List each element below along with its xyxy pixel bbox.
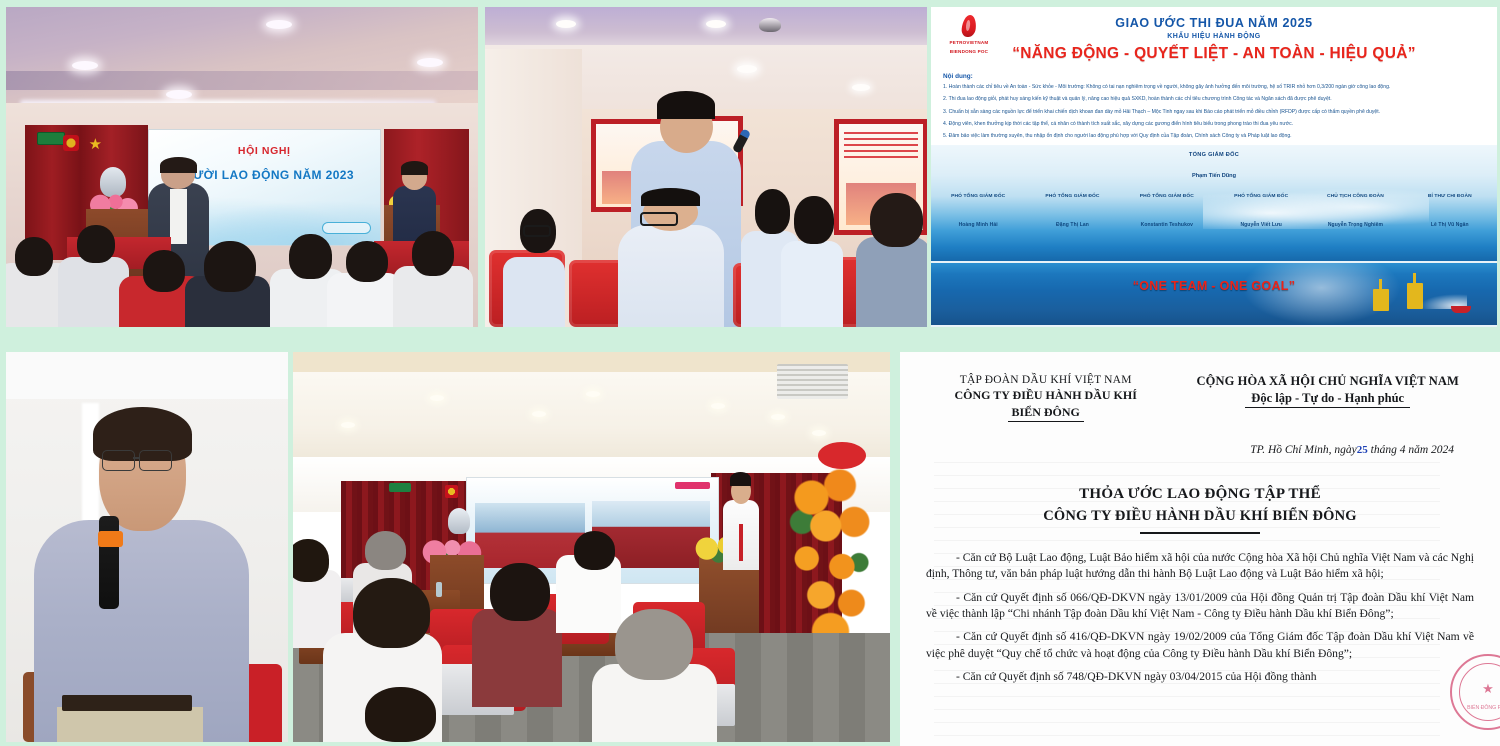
poster-signature-area: TỔNG GIÁM ĐỐC Phạm Tiến Dũng PHÓ TỔNG GI… <box>931 145 1497 261</box>
header-left-block: TẬP ĐOÀN DẦU KHÍ VIỆT NAM CÔNG TY ĐIỀU H… <box>926 374 1165 422</box>
downlight-icon <box>532 411 546 417</box>
hall-scene: ★ <box>293 352 890 742</box>
ceiling <box>6 352 288 399</box>
audience-head <box>615 609 693 679</box>
stamp-text: BIỂN ĐÔNG POC <box>1467 705 1500 711</box>
shirt <box>170 189 187 244</box>
audience-head <box>289 234 331 279</box>
poster-content: Nội dung: 1. Hoàn thành các chỉ tiêu về … <box>931 69 1497 145</box>
glasses-icon <box>523 225 551 237</box>
signatory-name: Lê Thị Vũ Ngân <box>1403 222 1497 228</box>
audience-head <box>365 531 407 570</box>
screen-title-line1: HỘI NGHỊ <box>149 145 380 157</box>
national-header-line1: CỘNG HÒA XÃ HỘI CHỦ NGHĨA VIỆT NAM <box>1181 374 1474 389</box>
audience-head <box>365 687 437 742</box>
signatory-name: Nguyễn Viết Lưu <box>1214 222 1308 228</box>
audience-person <box>856 237 927 327</box>
downlight-icon <box>556 20 576 28</box>
audience-head <box>15 237 53 275</box>
content-item: 5. Đảm bảo việc làm thường xuyên, thu nh… <box>943 133 1485 140</box>
photo-speaker-portrait <box>6 352 288 742</box>
air-conditioning-vent <box>777 364 849 399</box>
poster-text-lines <box>844 132 918 157</box>
audience-person <box>503 257 565 327</box>
water-bottle <box>436 582 442 597</box>
hair <box>641 188 700 206</box>
signatory-title: PHÓ TỔNG GIÁM ĐỐC <box>1214 194 1308 199</box>
national-header-line2: Độc lập - Tự do - Hạnh phúc <box>1245 391 1410 408</box>
audience-head <box>204 241 256 292</box>
signatory-title: PHÓ TỔNG GIÁM ĐỐC <box>1120 194 1214 199</box>
person-belt <box>62 695 192 711</box>
seated-person-front <box>618 225 724 327</box>
downlight-icon <box>266 20 292 29</box>
oil-rig-icon <box>1373 289 1389 311</box>
poster-body: PETROVIETNAM BIENDONG POC GIAO ƯỚC THI Đ… <box>931 7 1497 327</box>
microphone-foam <box>98 531 123 547</box>
document-page: TẬP ĐOÀN DẦU KHÍ VIỆT NAM CÔNG TY ĐIỀU H… <box>900 352 1500 746</box>
supply-boat-icon <box>1451 306 1471 313</box>
content-item: 3. Chuẩn bị sẵn sàng các nguồn lực để tr… <box>943 109 1485 116</box>
photo-collage-board: ★ HỘI NGHỊ NGƯỜI LAO ĐỘNG NĂM 2023 <box>0 0 1500 746</box>
screen-toolbar-badge <box>675 482 710 489</box>
glasses-bridge <box>133 457 140 459</box>
downlight-icon <box>417 58 443 67</box>
audience-head <box>490 563 550 622</box>
ho-chi-minh-bust <box>448 508 470 534</box>
org-line1: TẬP ĐOÀN DẦU KHÍ VIỆT NAM <box>926 374 1165 386</box>
glasses-icon <box>139 450 172 472</box>
flame-icon <box>961 15 977 37</box>
hair <box>657 91 714 119</box>
photo-conference-2023: ★ HỘI NGHỊ NGƯỜI LAO ĐỘNG NĂM 2023 <box>6 7 478 327</box>
signatory-name: Đặng Thị Lan <box>1025 222 1119 228</box>
signatory-name: Nguyễn Trọng Nghiêm <box>1308 222 1402 228</box>
security-camera-icon <box>759 18 781 32</box>
poster-slogan: “NĂNG ĐỘNG - QUYẾT LIỆT - AN TOÀN - HIỆU… <box>931 40 1497 63</box>
presenter-at-podium <box>723 500 759 570</box>
downlight-icon <box>737 65 757 73</box>
audience-head <box>412 231 454 276</box>
petrovietnam-logo: PETROVIETNAM BIENDONG POC <box>945 15 993 61</box>
downlight-icon <box>706 20 726 28</box>
audience-mic-scene <box>485 7 927 327</box>
content-item: 2. Thi đua lao động giỏi, phát huy sáng … <box>943 96 1485 103</box>
date-suffix: tháng 4 năm 2024 <box>1368 444 1454 456</box>
audience-head <box>293 539 329 582</box>
signatory-title: PHÓ TỔNG GIÁM ĐỐC <box>931 194 1025 199</box>
speaker-portrait-scene <box>6 352 288 742</box>
logo-text-line1: PETROVIETNAM <box>945 40 993 46</box>
flower-stand-banner <box>818 442 866 469</box>
signatory-title: BÍ THƯ CHI ĐOÀN <box>1403 194 1497 199</box>
signatory-titles-row: PHÓ TỔNG GIÁM ĐỐC PHÓ TỔNG GIÁM ĐỐC PHÓ … <box>931 194 1497 199</box>
poster-footer-banner: “ONE TEAM - ONE GOAL” <box>931 261 1497 327</box>
audience-person <box>472 609 562 707</box>
ceo-name: Phạm Tiến Dũng <box>931 173 1497 179</box>
date-prefix: TP. Hồ Chí Minh, ngày <box>1250 444 1357 456</box>
audience-head <box>346 241 388 283</box>
document-date: TP. Hồ Chí Minh, ngày25 tháng 4 năm 2024 <box>926 444 1474 456</box>
signatory-title: PHÓ TỔNG GIÁM ĐỐC <box>1025 194 1119 199</box>
audience-person <box>58 257 129 327</box>
microphone-icon <box>99 516 119 610</box>
commitment-poster-2025: PETROVIETNAM BIENDONG POC GIAO ƯỚC THI Đ… <box>931 7 1497 327</box>
signatory-names-row: Hoàng Minh Hải Đặng Thị Lan Konstantin T… <box>931 222 1497 228</box>
hair <box>160 157 197 174</box>
header-right-block: CỘNG HÒA XÃ HỘI CHỦ NGHĨA VIỆT NAM Độc l… <box>1181 374 1474 408</box>
document-header: TẬP ĐOÀN DẦU KHÍ VIỆT NAM CÔNG TY ĐIỀU H… <box>926 374 1474 422</box>
audience-head <box>794 196 834 244</box>
scan-bleed-through <box>934 462 1440 746</box>
downlight-icon <box>586 391 600 397</box>
signatory-name: Hoàng Minh Hải <box>931 222 1025 228</box>
party-emblem-icon <box>445 485 458 498</box>
content-label: Nội dung: <box>943 73 1485 80</box>
hair <box>730 472 751 486</box>
scanned-labor-agreement: TẬP ĐOÀN DẦU KHÍ VIỆT NAM CÔNG TY ĐIỀU H… <box>900 352 1500 746</box>
person-trousers <box>57 707 204 742</box>
stamp-star-icon: ★ <box>1482 681 1494 697</box>
downlight-icon <box>852 84 870 91</box>
audience-person <box>781 241 843 327</box>
ceiling <box>6 7 478 106</box>
hair <box>401 161 428 174</box>
audience-head <box>574 531 616 570</box>
org-line2: CÔNG TY ĐIỀU HÀNH DẦU KHÍ <box>926 388 1165 403</box>
content-item: 4. Động viên, khen thưởng kịp thời các t… <box>943 121 1485 128</box>
exit-sign <box>37 132 65 145</box>
screen-badge <box>322 222 370 234</box>
audience-head <box>870 193 923 247</box>
exit-sign <box>389 483 411 492</box>
ceo-title: TỔNG GIÁM ĐỐC <box>931 152 1497 158</box>
gold-star-icon: ★ <box>89 137 102 152</box>
content-item: 1. Hoàn thành các chỉ tiêu về An toàn - … <box>943 84 1485 91</box>
glasses-icon <box>640 212 678 226</box>
necktie <box>739 524 743 560</box>
audience-head <box>143 250 185 292</box>
logo-text-line2: BIENDONG POC <box>945 49 993 55</box>
photo-employee-with-mic <box>485 7 927 327</box>
party-emblem-icon <box>63 135 79 151</box>
conference-scene: ★ HỘI NGHỊ NGƯỜI LAO ĐỘNG NĂM 2023 <box>6 7 478 327</box>
downlight-icon <box>430 395 444 401</box>
audience-head <box>77 225 115 263</box>
downlight-icon <box>711 403 725 409</box>
poster-subtitle: KHẨU HIỆU HÀNH ĐỘNG <box>931 30 1497 40</box>
audience-head <box>353 578 431 648</box>
date-handwritten: 25 <box>1357 444 1368 456</box>
poster-title: GIAO ƯỚC THI ĐUA NĂM 2025 <box>931 7 1497 30</box>
audience-head <box>755 189 790 234</box>
org-line3: BIỂN ĐÔNG <box>1008 405 1084 422</box>
poster-header: PETROVIETNAM BIENDONG POC GIAO ƯỚC THI Đ… <box>931 7 1497 69</box>
photo-conference-hall-wide: ★ <box>293 352 890 742</box>
ceiling-beam <box>6 71 478 90</box>
ceiling <box>485 7 927 49</box>
glasses-icon <box>102 450 135 472</box>
signatory-name: Konstantin Teshukov <box>1120 222 1214 228</box>
signatory-title: CHỦ TỊCH CÔNG ĐOÀN <box>1308 194 1402 199</box>
